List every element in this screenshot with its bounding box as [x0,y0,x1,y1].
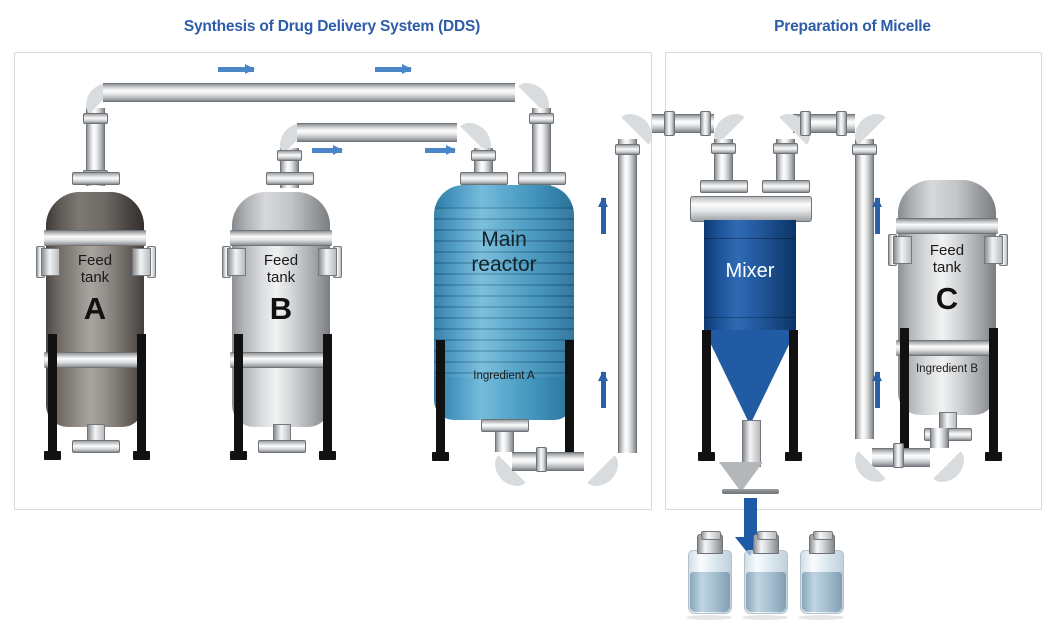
tank-band [44,230,146,246]
elbow-icon [618,114,652,148]
vial-cap [697,534,723,554]
feed-tank-a[interactable]: Feed tank A [46,192,144,427]
mixer-cone [704,330,796,425]
feed-tank-a-label-1: Feed [46,252,144,269]
vial-liquid [802,572,842,612]
feed-tank-a-letter: A [46,292,144,325]
feed-tank-c[interactable]: Feed tank C Ingredient B [898,180,996,415]
tank-band [230,352,332,368]
panel-title-micelle: Preparation of Micelle [665,18,1040,36]
feed-tank-c-label-2: tank [898,259,996,276]
tank-band [896,340,998,356]
mixer-funnel [719,462,763,492]
main-reactor-contents: Ingredient A [434,370,574,382]
reactor-leg [565,340,574,460]
flow-arrow-right [425,145,455,155]
tank-leg [323,334,332,459]
bottom-flange [72,440,120,453]
feed-tank-c-contents: Ingredient B [898,363,996,375]
bottom-flange [258,440,306,453]
reactor-leg [436,340,445,460]
main-reactor-label-2: reactor [434,252,574,277]
panel-title-synthesis: Synthesis of Drug Delivery System (DDS) [14,18,650,36]
flow-arrow-up [598,372,609,408]
mixer-label: Mixer [704,260,796,283]
flow-arrow-right [218,64,254,74]
feed-tank-b-label-2: tank [232,269,330,286]
product-vial [800,534,842,616]
main-reactor[interactable]: Main reactor Ingredient A [434,185,574,420]
mixer-outlet-stem [742,420,761,467]
flow-arrow-up [872,198,883,234]
feed-tank-b-label-1: Feed [232,252,330,269]
vial-glass [744,550,788,614]
tank-band [896,218,998,234]
tank-leg [137,334,146,459]
vial-liquid [746,572,786,612]
vial-cap [809,534,835,554]
vial-glass [688,550,732,614]
tank-band [230,230,332,246]
main-reactor-label-1: Main [434,227,574,252]
tank-band [44,352,146,368]
feed-tank-b-letter: B [232,292,330,325]
vial-liquid [690,572,730,612]
flow-arrow-up [598,198,609,234]
feed-tank-c-label-1: Feed [898,242,996,259]
vial-cap [753,534,779,554]
elbow-icon [930,448,964,482]
vial-glass [800,550,844,614]
flow-arrow-right [312,145,342,155]
mixer-leg [702,330,711,460]
tank-leg [900,328,909,460]
funnel-rim [722,489,779,494]
flow-arrow-up [872,372,883,408]
mixer-shell: Mixer [704,220,796,330]
feed-tank-c-letter: C [898,282,996,315]
tank-leg [48,334,57,459]
elbow-icon [584,452,618,486]
product-vial [688,534,730,616]
product-vial [744,534,786,616]
elbow-icon [855,448,889,482]
tank-leg [234,334,243,459]
process-diagram: Synthesis of Drug Delivery System (DDS) … [0,0,1054,640]
tank-leg [989,328,998,460]
elbow-icon [855,114,889,148]
flow-arrow-right [375,64,411,74]
feed-tank-a-label-2: tank [46,269,144,286]
feed-tank-b[interactable]: Feed tank B [232,192,330,427]
mixer-lid [690,196,812,222]
mixer-leg [789,330,798,460]
